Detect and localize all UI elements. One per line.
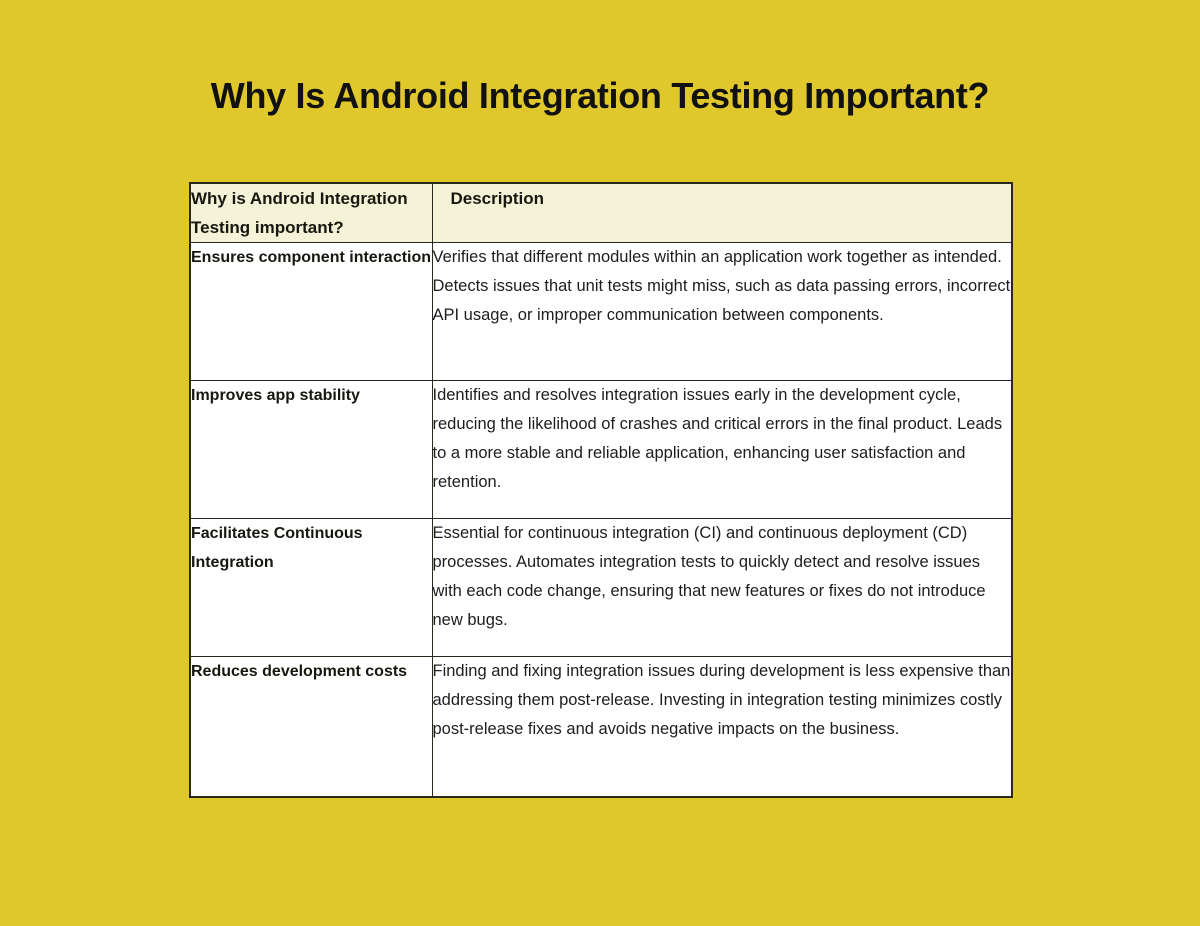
table-header-row: Why is Android Integration Testing impor… (190, 183, 1012, 243)
table-body: Ensures component interaction Verifies t… (190, 243, 1012, 797)
table-header: Why is Android Integration Testing impor… (190, 183, 1012, 243)
row-description: Essential for continuous integration (CI… (432, 519, 1012, 657)
column-header-term: Why is Android Integration Testing impor… (190, 183, 432, 243)
table-row: Ensures component interaction Verifies t… (190, 243, 1012, 381)
row-description: Verifies that different modules within a… (432, 243, 1012, 381)
column-header-description: Description (432, 183, 1012, 243)
page-title: Why Is Android Integration Testing Impor… (0, 74, 1200, 118)
page-root: { "page": { "title": "Why Is Android Int… (0, 0, 1200, 926)
row-term: Ensures component interaction (190, 243, 432, 381)
row-term: Improves app stability (190, 381, 432, 519)
row-term: Reduces development costs (190, 657, 432, 797)
row-description: Finding and fixing integration issues du… (432, 657, 1012, 797)
table-row: Improves app stability Identifies and re… (190, 381, 1012, 519)
row-term: Facilitates Continuous Integration (190, 519, 432, 657)
table-row: Reduces development costs Finding and fi… (190, 657, 1012, 797)
table-row: Facilitates Continuous Integration Essen… (190, 519, 1012, 657)
why-integration-testing-table: Why is Android Integration Testing impor… (189, 182, 1013, 798)
row-description: Identifies and resolves integration issu… (432, 381, 1012, 519)
info-table-container: Why is Android Integration Testing impor… (189, 182, 1011, 798)
